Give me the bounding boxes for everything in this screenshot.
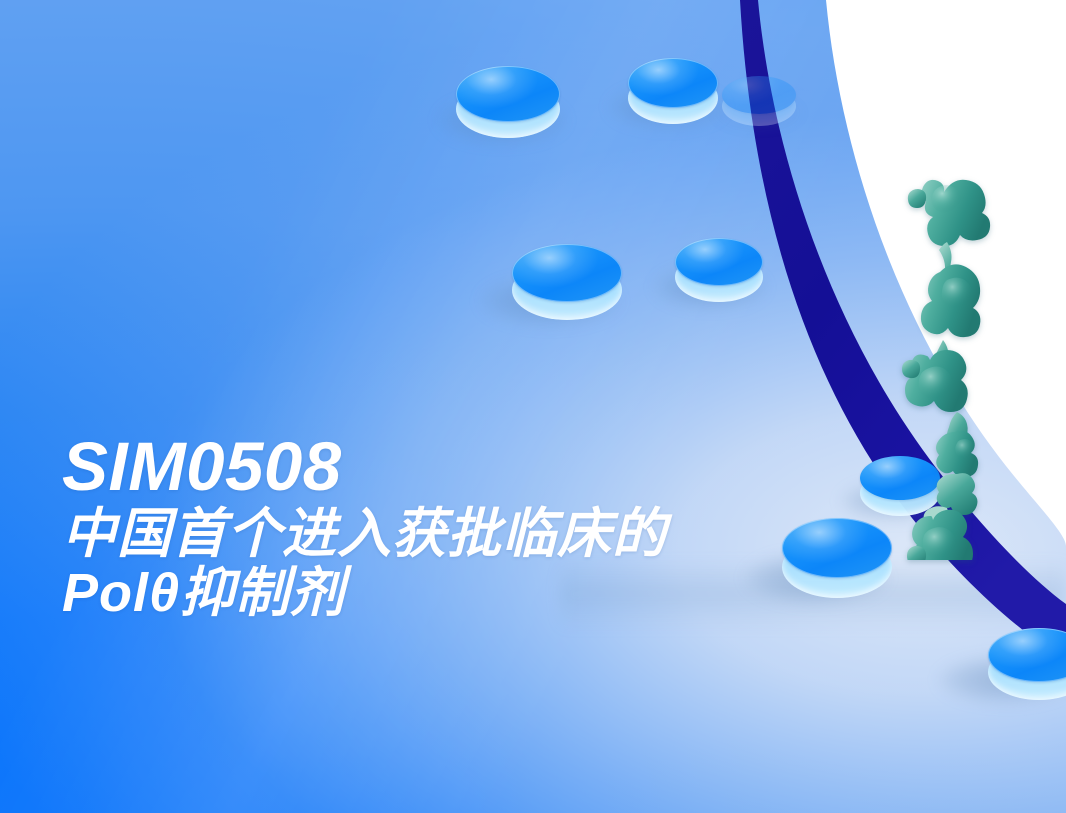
drug-tablet: [625, 52, 721, 132]
subtitle-line-1: 中国首个进入获批临床的: [62, 504, 822, 564]
page-title: SIM0508: [62, 432, 822, 502]
poster-canvas: SIM0508 中国首个进入获批临床的 Polθ抑制剂: [0, 0, 1066, 813]
title-block: SIM0508 中国首个进入获批临床的 Polθ抑制剂: [62, 432, 822, 623]
tablet-rim: [628, 58, 718, 108]
drug-tablet: [672, 232, 766, 312]
drug-tablet: [720, 72, 800, 134]
drug-tablet: [508, 238, 628, 328]
tablet-rim: [675, 238, 763, 286]
tablet-rim: [456, 66, 560, 122]
drug-tablet: [984, 622, 1066, 708]
drug-tablet: [452, 58, 564, 146]
subtitle-line-2: Polθ抑制剂: [62, 563, 822, 623]
tablet-top: [722, 76, 796, 114]
tablet-rim: [512, 244, 622, 302]
polymerase-theta-protein-ribbon: [885, 160, 1065, 560]
